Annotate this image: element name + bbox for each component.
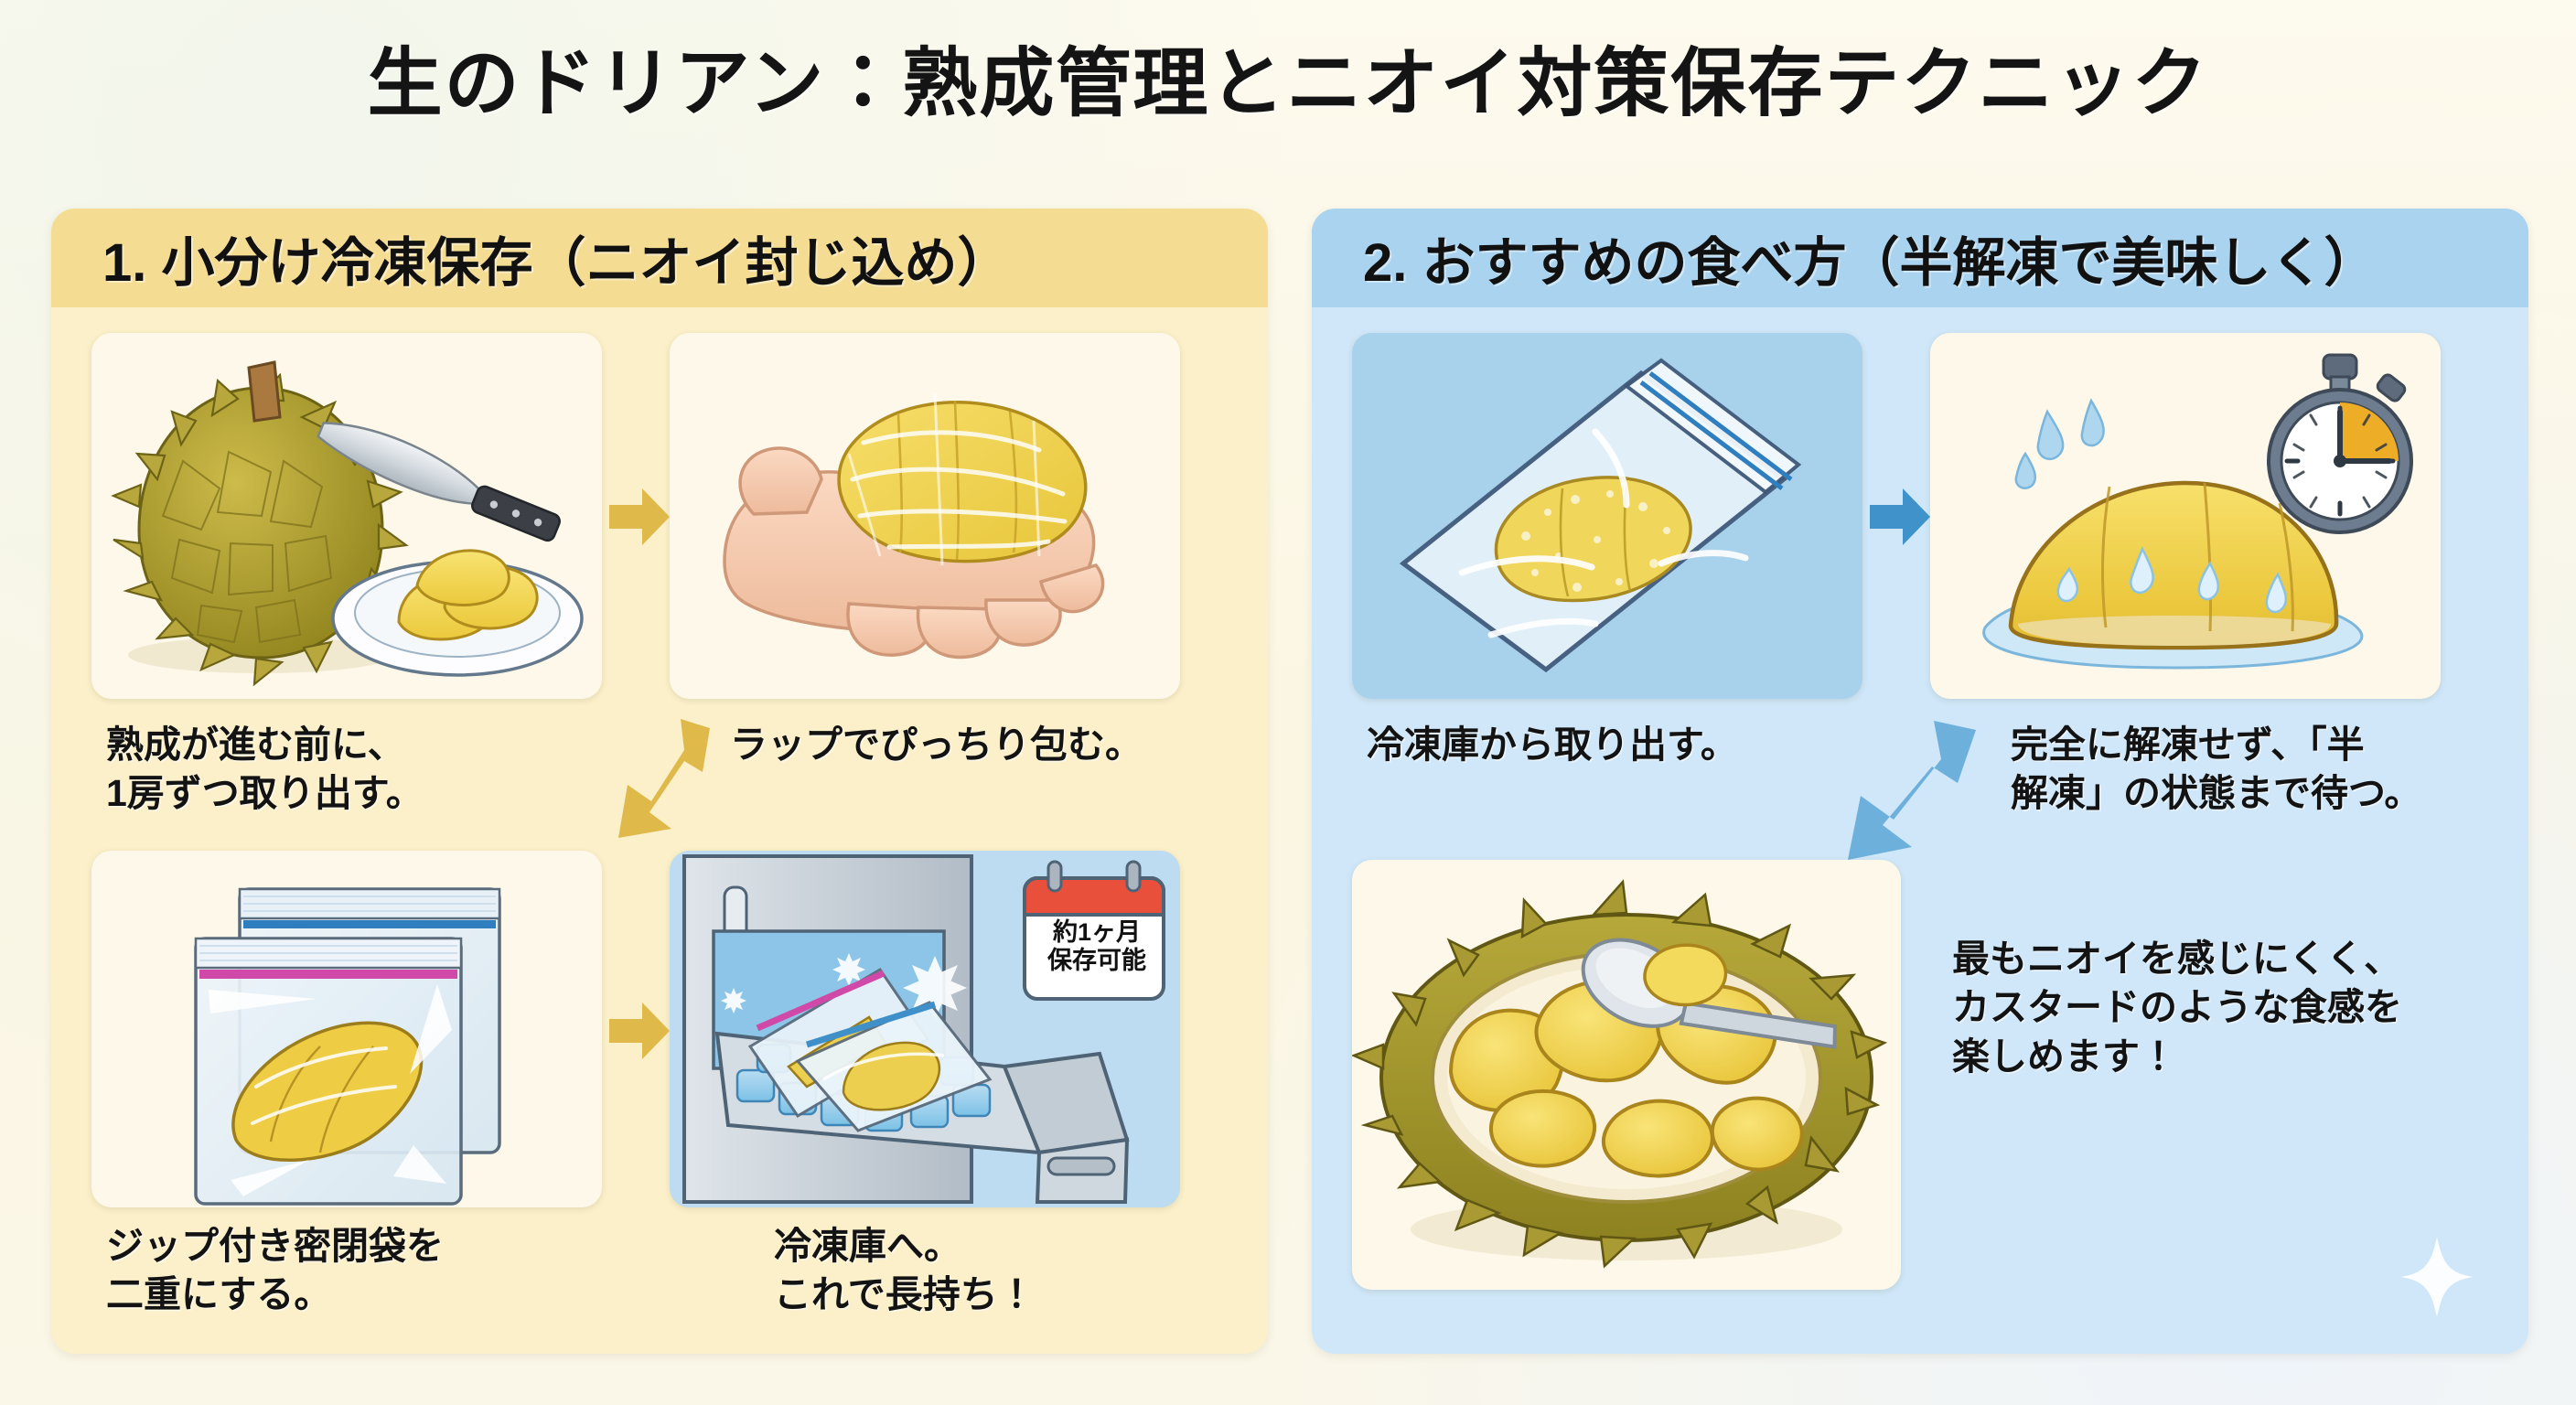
illustration-frozen-zip-bag (1352, 333, 1862, 699)
section-freezing: 1. 小分け冷凍保存（ニオイ封じ込め） (51, 209, 1268, 1354)
illustration-freezer-drawer: 約1ヶ月 保存可能 (670, 851, 1180, 1207)
caption-step-3: ジップ付き密閉袋を 二重にする。 (106, 1222, 545, 1320)
calendar-badge-line1: 約1ヶ月 (1028, 918, 1165, 947)
section-eating: 2. おすすめの食べ方（半解凍で美味しく） (1312, 209, 2528, 1354)
section-eating-body: 冷凍庫から取り出す。 完全に解凍せず、「半 解凍」の状態まで待つ。 (1312, 307, 2528, 1354)
caption-step-5: 冷凍庫から取り出す。 (1367, 721, 1879, 769)
section-freezing-body: 熟成が進む前に、 1房ずつ取り出す。 ラップでぴっちり包む。 (51, 307, 1268, 1354)
arrow-right-step1-to-step2 (606, 477, 673, 556)
caption-step-7: 最もニオイを感じにくく、 カスタードのような食感を 楽しめます！ (1952, 935, 2501, 1081)
illustration-durian-half-with-spoon (1352, 860, 1901, 1290)
section-eating-title: 2. おすすめの食べ方（半解凍で美味しく） (1363, 220, 2377, 296)
illustration-double-zip-bag (91, 851, 602, 1207)
caption-step-1: 熟成が進む前に、 1房ずつ取り出す。 (106, 721, 527, 819)
caption-step-4: 冷凍庫へ。 これで長持ち！ (774, 1222, 1176, 1320)
arrow-right-step3-to-step4 (606, 992, 673, 1070)
calendar-badge-text: 約1ヶ月 保存可能 (1028, 918, 1165, 976)
arrow-downleft-step2-to-step3 (596, 717, 724, 845)
illustration-hand-wrapping-durian (670, 333, 1180, 699)
caption-step-6: 完全に解凍せず、「半 解凍」の状態まで待つ。 (2011, 721, 2468, 819)
section-freezing-title: 1. 小分け冷凍保存（ニオイ封じ込め） (102, 220, 1011, 296)
illustration-whole-durian-knife-plate (91, 333, 602, 699)
section-freezing-header: 1. 小分け冷凍保存（ニオイ封じ込め） (51, 209, 1268, 307)
page-title: 生のドリアン：熟成管理とニオイ対策保存テクニック (0, 22, 2576, 131)
caption-step-2: ラップでぴっちり包む。 (730, 721, 1187, 769)
illustration-thawing-durian-timer (1930, 333, 2441, 699)
sparkle-icon (2397, 1233, 2477, 1321)
arrow-right-step5-to-step6 (1866, 477, 1934, 556)
section-eating-header: 2. おすすめの食べ方（半解凍で美味しく） (1312, 209, 2528, 307)
calendar-badge-line2: 保存可能 (1028, 947, 1165, 975)
